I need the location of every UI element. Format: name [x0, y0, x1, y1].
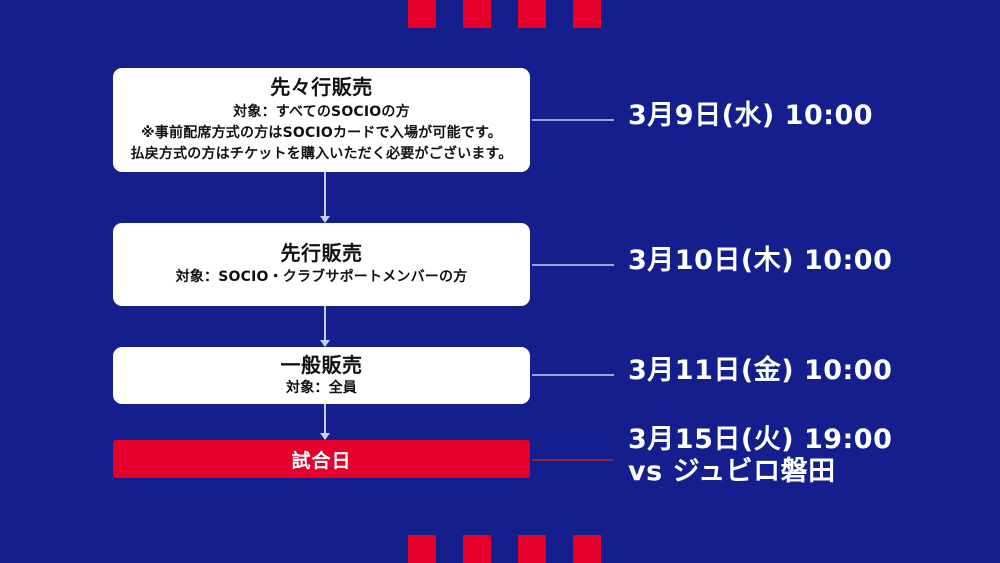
arrow-down-icon: [320, 340, 330, 347]
tick-mark: [408, 0, 436, 28]
arrow-down-icon: [320, 433, 330, 440]
tick-mark: [408, 535, 436, 563]
tick-mark: [573, 0, 601, 28]
top-tick-bar: [0, 0, 1000, 28]
ticket-sales-schedule-diagram: 先々行販売 対象：すべてのSOCIOの方 ※事前配席方式の方はSOCIOカードで…: [0, 0, 1000, 563]
date-text: 3月9日(水) 10:00: [628, 100, 873, 132]
tick-mark: [573, 535, 601, 563]
match-day-label: 試合日: [291, 446, 351, 473]
sales-step-box-sakisakikou: 先々行販売 対象：すべてのSOCIOの方 ※事前配席方式の方はSOCIOカードで…: [113, 68, 530, 172]
sales-step-detail: 払戻方式の方はチケットを購入いただく必要がございます。: [131, 144, 513, 165]
sales-step-date-ippan: 3月11日(金) 10:00: [628, 355, 892, 387]
sales-step-title: 先々行販売: [270, 75, 373, 100]
sales-step-date-sakisakikou: 3月9日(水) 10:00: [628, 100, 873, 132]
sales-step-title: 先行販売: [281, 241, 363, 266]
sales-step-box-ippan: 一般販売 対象：全員: [113, 347, 530, 404]
date-text: 3月10日(木) 10:00: [628, 245, 892, 277]
opponent-text: vs ジュビロ磐田: [628, 456, 892, 488]
flow-connector-arrow-down: [324, 404, 326, 439]
leader-line: [532, 459, 614, 461]
tick-mark: [518, 535, 546, 563]
tick-mark: [518, 0, 546, 28]
match-day-date: 3月15日(火) 19:00 vs ジュビロ磐田: [628, 424, 892, 489]
arrow-down-icon: [320, 216, 330, 223]
match-day-box: 試合日: [113, 440, 530, 478]
date-text: 3月15日(火) 19:00: [628, 424, 892, 456]
tick-mark: [463, 535, 491, 563]
sales-step-detail: 対象：全員: [286, 378, 357, 399]
leader-line: [532, 264, 614, 266]
flow-connector-arrow-down: [324, 172, 326, 222]
tick-mark: [463, 0, 491, 28]
sales-step-title: 一般販売: [281, 353, 363, 378]
sales-step-detail: ※事前配席方式の方はSOCIOカードで入場が可能です。: [141, 123, 502, 144]
sales-step-box-senkou: 先行販売 対象：SOCIO・クラブサポートメンバーの方: [113, 223, 530, 306]
sales-step-detail: 対象：SOCIO・クラブサポートメンバーの方: [176, 267, 468, 288]
leader-line: [532, 374, 614, 376]
bottom-tick-bar: [0, 535, 1000, 563]
sales-step-detail: 対象：すべてのSOCIOの方: [233, 102, 410, 123]
leader-line: [532, 119, 614, 121]
flow-connector-arrow-down: [324, 306, 326, 346]
date-text: 3月11日(金) 10:00: [628, 355, 892, 387]
sales-step-date-senkou: 3月10日(木) 10:00: [628, 245, 892, 277]
